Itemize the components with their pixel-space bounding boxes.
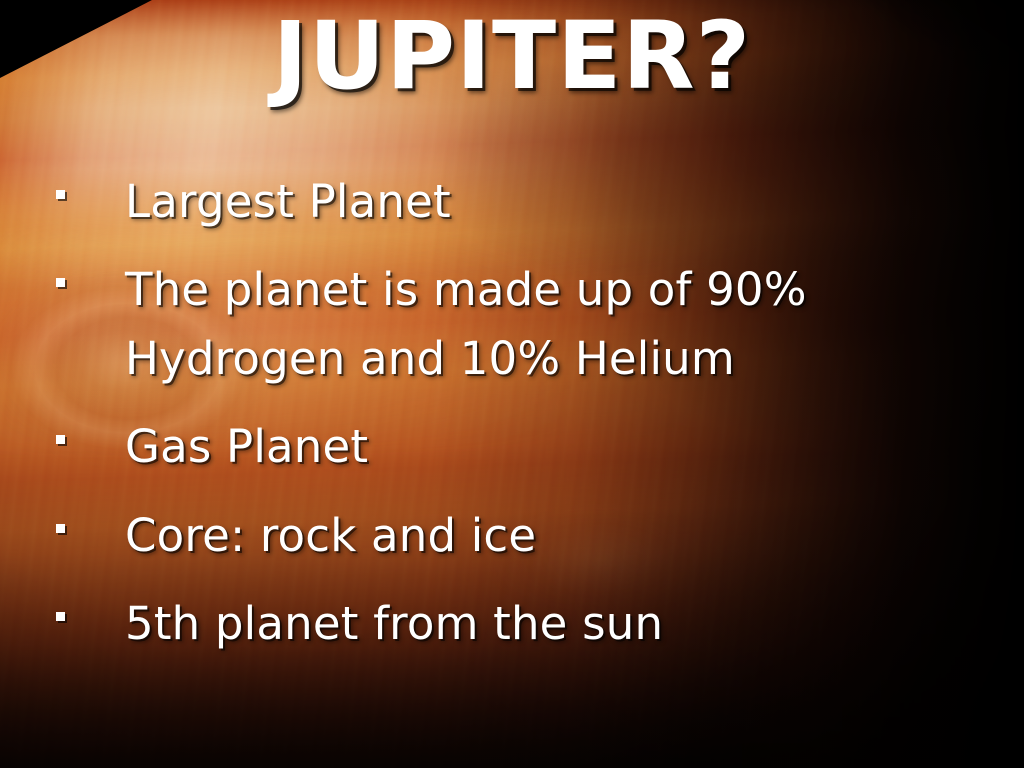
presentation-slide: JUPITER? Largest Planet The planet is ma… [0, 0, 1024, 768]
list-item: The planet is made up of 90% Hydrogen an… [56, 256, 966, 393]
square-bullet-icon [56, 524, 65, 533]
square-bullet-icon [56, 612, 65, 621]
list-item: Gas Planet [56, 413, 966, 481]
slide-content: JUPITER? Largest Planet The planet is ma… [0, 0, 1024, 768]
square-bullet-icon [56, 190, 65, 199]
bullet-text: Gas Planet [125, 413, 915, 481]
square-bullet-icon [56, 435, 65, 444]
bullet-text: Largest Planet [125, 168, 915, 236]
page-title: JUPITER? [0, 10, 1024, 104]
list-item: Core: rock and ice [56, 502, 966, 570]
square-bullet-icon [56, 278, 65, 287]
bullet-list: Largest Planet The planet is made up of … [56, 168, 966, 678]
list-item: 5th planet from the sun [56, 590, 966, 658]
bullet-text: The planet is made up of 90% Hydrogen an… [125, 256, 915, 393]
list-item: Largest Planet [56, 168, 966, 236]
bullet-text: Core: rock and ice [125, 502, 915, 570]
bullet-text: 5th planet from the sun [125, 590, 915, 658]
